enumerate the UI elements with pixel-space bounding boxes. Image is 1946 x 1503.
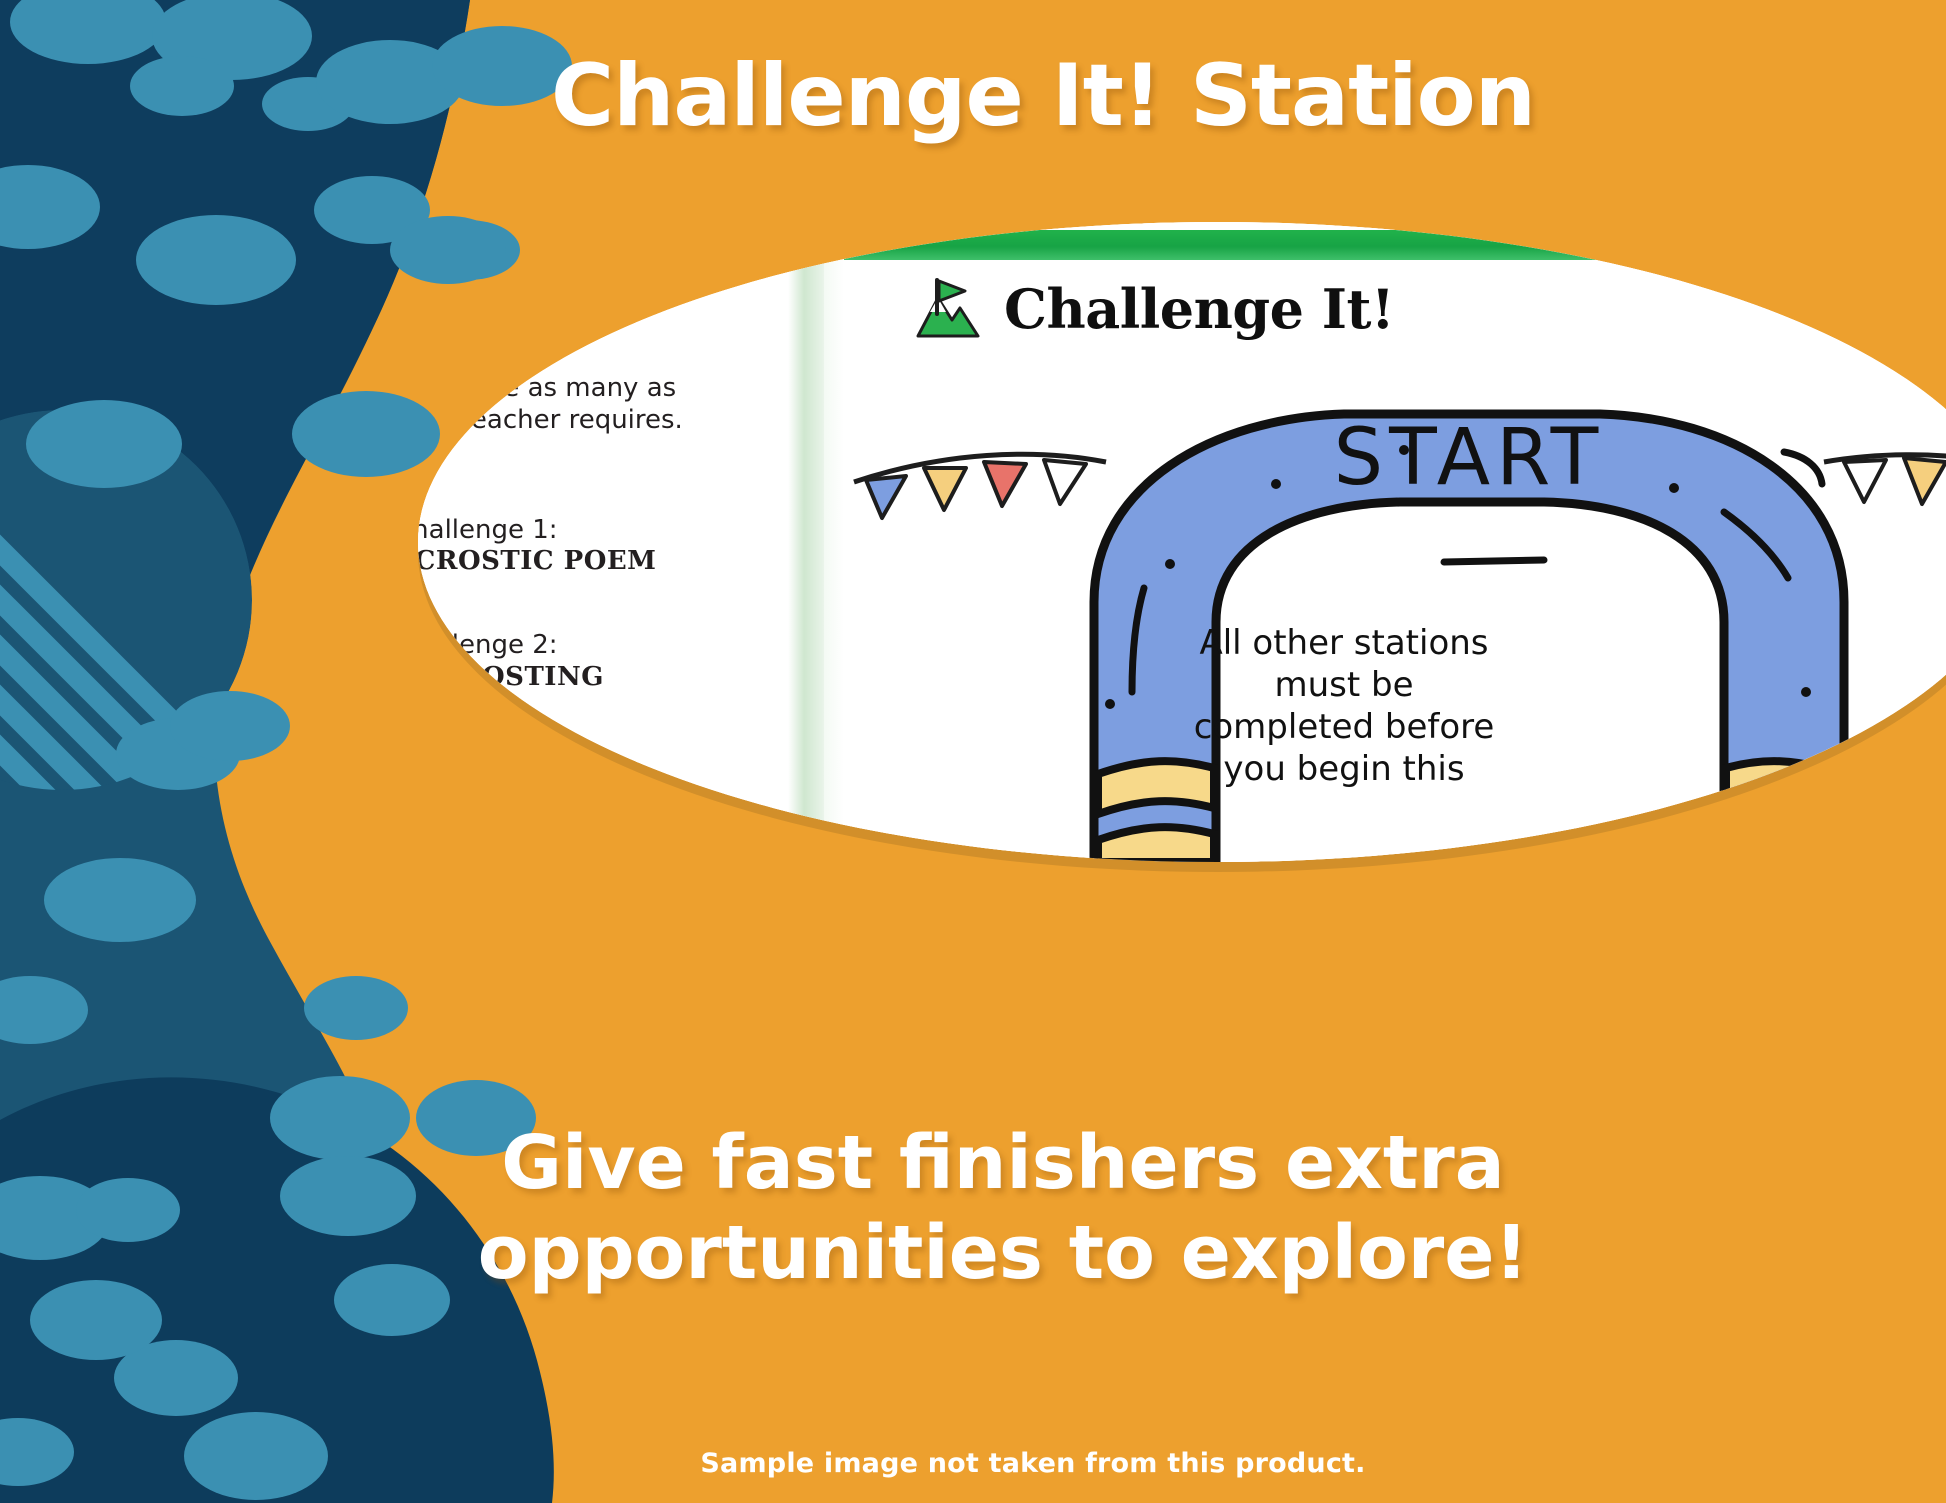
mountain-flag-icon [908,274,982,344]
challenge-item: enge 3: NG [418,745,774,808]
page-title: Challenge It! Station [0,46,1946,146]
challenge-name: JOB POSTING [418,662,774,694]
page-gutter [788,222,824,862]
tagline-line-2: opportunities to explore! [120,1208,1886,1298]
left-instruction-line-1: Complete as many as [418,373,676,403]
challenge-name: NG [418,777,774,809]
tagline-line-1: Give fast finishers extra [120,1118,1886,1208]
challenge-label: Challenge 2: [418,630,774,662]
arch-message: All other stations must be completed bef… [1154,622,1534,791]
green-accent-bar [844,230,1946,260]
arch-message-line-2: must be [1154,664,1534,706]
challenge-item: Challenge 2: JOB POSTING [418,630,774,693]
arch-message-line-4: you begin this [1154,748,1534,790]
left-intro: challenges e from on the slides. [418,252,774,347]
bunting-flag [1844,460,1886,502]
challenge-item: Challenge 1: ACROSTIC POEM [418,515,774,578]
document-right-page: Challenge It! [844,222,1946,862]
arch-start-label: START [1334,413,1605,503]
disclaimer-text: Sample image not taken from this product… [0,1448,1946,1479]
challenge-label: Challenge 1: [418,515,774,547]
arch-message-line-1: All other stations [1154,622,1534,664]
bunting-flag [984,462,1026,506]
document-heading-row: Challenge It! [908,274,1394,344]
poster-canvas: Challenge It! Station challenges e from … [0,0,1946,1503]
challenge-name: ACROSTIC POEM [418,546,774,578]
document-spread: challenges e from on the slides. Complet… [418,222,1946,862]
left-instruction-line-2: your teacher requires. [418,405,683,435]
challenge-label: enge 3: [418,745,774,777]
left-intro-line-2: e from on the [418,284,570,314]
left-intro-line-1: challenges [418,252,534,282]
document-title: Challenge It! [1004,277,1394,341]
left-instruction: Complete as many as your teacher require… [418,373,774,436]
page-gutter-shadow [824,222,844,862]
bunting-flag [1904,458,1946,504]
bunting-flag [1044,460,1086,504]
left-intro-line-3: slides. [418,315,476,345]
product-preview-oval[interactable]: challenges e from on the slides. Complet… [418,222,1946,862]
start-arch-illustration: START All other stations must be complet… [844,392,1946,862]
bunting-flag [924,468,966,510]
document-left-page: challenges e from on the slides. Complet… [418,222,788,862]
tagline: Give fast finishers extra opportunities … [0,1118,1946,1299]
bunting-flag [866,476,906,518]
arch-message-line-3: completed before [1154,706,1534,748]
